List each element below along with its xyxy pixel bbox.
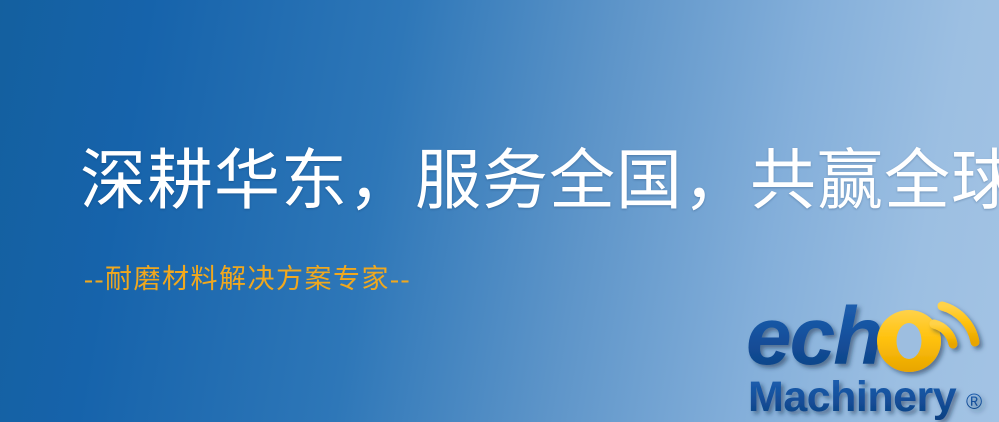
page-title: 深耕华东，服务全国，共赢全球	[80, 149, 999, 215]
logo-letters-ech: ech	[746, 294, 881, 382]
hero-banner: 深耕华东，服务全国，共赢全球 --耐磨材料解决方案专家--	[0, 0, 999, 422]
banner-subtitle: --耐磨材料解决方案专家--	[84, 266, 411, 293]
registered-trademark-icon: ®	[966, 389, 982, 414]
logo-letter-group: ech	[746, 294, 881, 382]
o-counter	[897, 323, 922, 359]
logo-letter-o	[877, 310, 941, 372]
logo-artwork: ech Machinery ®	[744, 294, 999, 422]
logo-tagline-text: Machinery	[748, 373, 957, 421]
echo-machinery-logo: ech Machinery ®	[744, 294, 999, 422]
logo-tagline: Machinery ®	[748, 373, 982, 421]
